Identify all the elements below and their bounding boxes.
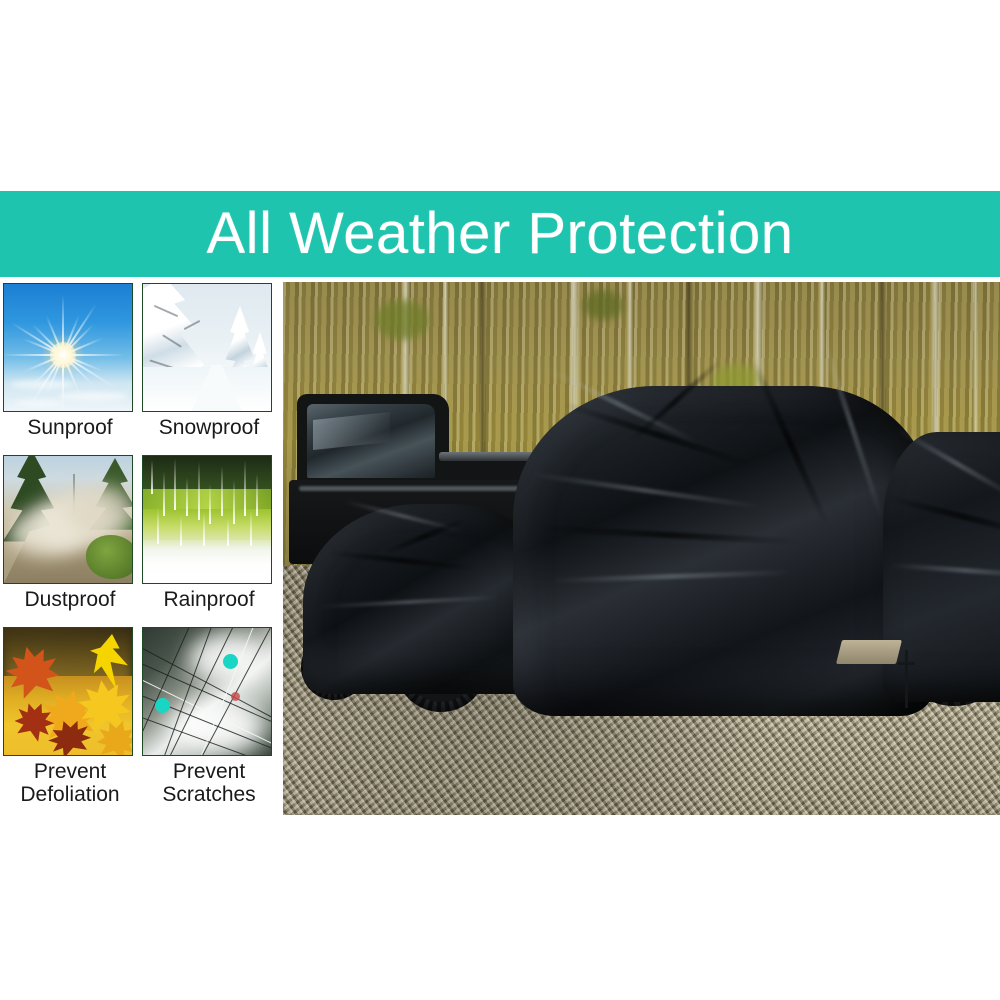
product-infographic: All Weather Protection S bbox=[0, 0, 1000, 1000]
scratch-icon bbox=[142, 627, 272, 756]
feature-label: Dustproof bbox=[3, 588, 137, 611]
headline-banner: All Weather Protection bbox=[0, 191, 1000, 277]
feature-tile-sunproof: Sunproof bbox=[3, 283, 139, 439]
feature-label: Prevent Scratches bbox=[142, 760, 276, 806]
feature-label: Rainproof bbox=[142, 588, 276, 611]
feature-label: Sunproof bbox=[3, 416, 137, 439]
feature-tile-prevent-scratches: Prevent Scratches bbox=[142, 627, 278, 806]
sun-icon bbox=[3, 283, 133, 412]
feature-label: Prevent Defoliation bbox=[3, 760, 137, 806]
snowflake-icon bbox=[142, 283, 272, 412]
dust-cloud-icon bbox=[3, 455, 133, 584]
feature-tile-rainproof: Rainproof bbox=[142, 455, 278, 611]
feature-label: Snowproof bbox=[142, 416, 276, 439]
feature-tile-prevent-defoliation: Prevent Defoliation bbox=[3, 627, 139, 806]
feature-tile-dustproof: Dustproof bbox=[3, 455, 139, 611]
falling-leaf-icon bbox=[3, 627, 133, 756]
raindrop-icon bbox=[142, 455, 272, 584]
product-photo bbox=[283, 282, 1000, 815]
feature-tile-snowproof: Snowproof bbox=[142, 283, 278, 439]
page-title: All Weather Protection bbox=[207, 205, 794, 263]
feature-tile-grid: Sunproof Snowproof bbox=[0, 277, 280, 815]
